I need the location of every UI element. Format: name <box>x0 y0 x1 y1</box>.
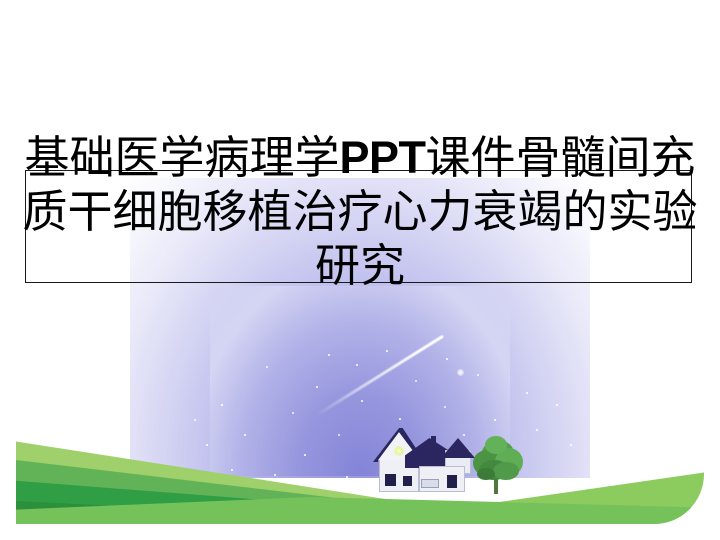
title-part-1: 基础医学病理学 <box>24 133 339 183</box>
cottage-house <box>371 426 481 492</box>
slide-title[interactable]: 基础医学病理学PPT课件骨髓间充质干细胞移植治疗心力衰竭的实验研究 <box>22 131 698 293</box>
presentation-slide: 基础医学病理学PPT课件骨髓间充质干细胞移植治疗心力衰竭的实验研究 <box>0 0 720 540</box>
comet-head <box>457 369 464 376</box>
tree <box>471 434 523 494</box>
title-latin-ppt: PPT <box>339 132 425 183</box>
